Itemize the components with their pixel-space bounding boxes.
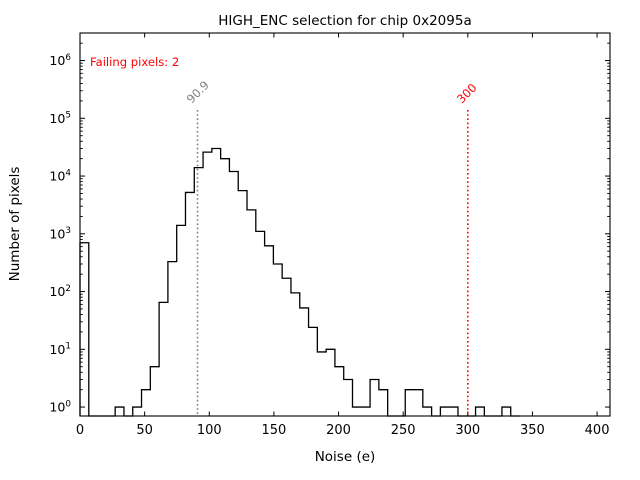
x-tick-label: 200 xyxy=(326,423,351,438)
y-tick-label: 101 xyxy=(49,342,71,357)
vertical-marker-lines: 90.9300 xyxy=(184,78,480,416)
x-tick-label: 350 xyxy=(520,423,545,438)
x-tick-label: 300 xyxy=(455,423,480,438)
page-title: HIGH_ENC selection for chip 0x2095a xyxy=(218,13,471,29)
y-tick-label: 104 xyxy=(49,168,71,183)
failing-pixels-annotation: Failing pixels: 2 xyxy=(90,55,179,69)
histogram-outline xyxy=(80,149,520,417)
x-tick-label: 400 xyxy=(585,423,610,438)
x-axis-label: Noise (e) xyxy=(315,449,376,465)
y-axis-ticks: 100101102103104105106 xyxy=(49,53,610,415)
y-tick-label: 106 xyxy=(49,53,71,68)
figure-canvas: HIGH_ENC selection for chip 0x2095a 0501… xyxy=(0,0,640,480)
x-tick-label: 150 xyxy=(261,423,286,438)
y-axis-label: Number of pixels xyxy=(7,167,23,282)
y-tick-label: 103 xyxy=(49,226,71,241)
x-tick-label: 0 xyxy=(76,423,84,438)
histogram-chart: HIGH_ENC selection for chip 0x2095a 0501… xyxy=(0,0,640,480)
x-tick-label: 250 xyxy=(391,423,416,438)
y-tick-label: 102 xyxy=(49,284,71,299)
mean-line-label: 90.9 xyxy=(184,78,212,106)
x-tick-label: 50 xyxy=(136,423,153,438)
x-tick-label: 100 xyxy=(197,423,222,438)
x-axis-ticks: 050100150200250300350400 xyxy=(76,33,610,438)
y-tick-label: 105 xyxy=(49,111,71,126)
threshold-line-label: 300 xyxy=(454,81,480,107)
y-tick-label: 100 xyxy=(49,399,71,414)
